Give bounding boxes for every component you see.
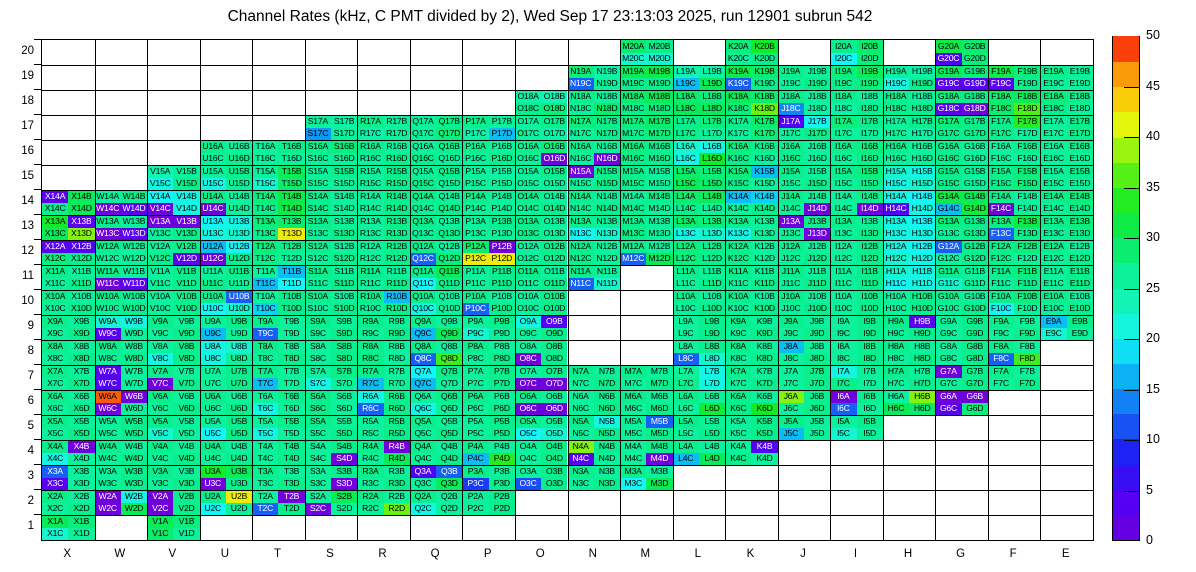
heatmap-subcell[interactable]: G11B [962,265,988,278]
heatmap-subcell[interactable]: I17B [857,115,883,128]
heatmap-subcell[interactable]: R10C [357,303,383,316]
heatmap-subcell[interactable]: J12C [778,253,804,266]
heatmap-subcell[interactable]: S3A [305,465,331,478]
heatmap-subcell[interactable]: L7A [673,365,699,378]
heatmap-subcell[interactable]: O5A [515,415,541,428]
heatmap-subcell[interactable]: L18A [673,90,699,103]
heatmap-subcell[interactable]: Q12C [410,253,436,266]
heatmap-subcell[interactable]: N13D [594,228,620,241]
heatmap-subcell[interactable]: E17A [1040,115,1066,128]
heatmap-subcell[interactable]: I18D [857,103,883,116]
heatmap-subcell[interactable]: P15C [462,178,488,191]
heatmap-subcell[interactable]: T3B [278,465,304,478]
heatmap-subcell[interactable]: X2A [42,490,68,503]
heatmap-subcell[interactable]: H15B [909,165,935,178]
heatmap-subcell[interactable]: N4B [594,440,620,453]
heatmap-subcell[interactable]: H16D [909,153,935,166]
heatmap-subcell[interactable]: J9D [804,328,830,341]
heatmap-subcell[interactable]: J5B [804,415,830,428]
heatmap-subcell[interactable]: T12D [278,253,304,266]
heatmap-subcell[interactable]: O14C [515,203,541,216]
heatmap-subcell[interactable]: G17B [962,115,988,128]
heatmap-subcell[interactable]: S4A [305,440,331,453]
heatmap-subcell[interactable]: F8B [1014,340,1040,353]
heatmap-subcell[interactable]: Q11D [436,278,462,291]
heatmap-subcell[interactable]: L14A [673,190,699,203]
heatmap-subcell[interactable]: O13D [541,228,567,241]
heatmap-subcell[interactable]: G8A [935,340,961,353]
heatmap-subcell[interactable]: G12D [962,253,988,266]
heatmap-subcell[interactable]: Q2B [436,490,462,503]
heatmap-subcell[interactable]: L17A [673,115,699,128]
heatmap-subcell[interactable]: H7C [883,378,909,391]
heatmap-subcell[interactable]: R4D [384,453,410,466]
heatmap-subcell[interactable]: N6D [594,403,620,416]
heatmap-subcell[interactable]: U5A [200,415,226,428]
heatmap-subcell[interactable]: H11D [909,278,935,291]
heatmap-subcell[interactable]: S7D [331,378,357,391]
heatmap-subcell[interactable]: O4A [515,440,541,453]
heatmap-subcell[interactable]: T8A [252,340,278,353]
heatmap-subcell[interactable]: E15A [1040,165,1066,178]
heatmap-subcell[interactable]: I17C [830,128,856,141]
heatmap-subcell[interactable]: Q3C [410,478,436,491]
heatmap-subcell[interactable]: P6A [462,390,488,403]
heatmap-subcell[interactable]: E10D [1067,303,1093,316]
heatmap-subcell[interactable]: V10A [147,290,173,303]
heatmap-subcell[interactable]: S13A [305,215,331,228]
heatmap-subcell[interactable]: Q2D [436,503,462,516]
heatmap-subcell[interactable]: K10A [725,290,751,303]
heatmap-subcell[interactable]: P10A [462,290,488,303]
heatmap-subcell[interactable]: M7D [646,378,672,391]
heatmap-subcell[interactable]: I5D [857,428,883,441]
heatmap-subcell[interactable]: J5A [778,415,804,428]
heatmap-subcell[interactable]: L8C [673,353,699,366]
heatmap-subcell[interactable]: T10C [252,303,278,316]
heatmap-subcell[interactable]: I19A [830,65,856,78]
heatmap-subcell[interactable]: H11B [909,265,935,278]
heatmap-subcell[interactable]: V13A [147,215,173,228]
heatmap-subcell[interactable]: V2C [147,503,173,516]
heatmap-subcell[interactable]: R6D [384,403,410,416]
heatmap-subcell[interactable]: L4D [699,453,725,466]
heatmap-subcell[interactable]: K10C [725,303,751,316]
heatmap-subcell[interactable]: O16B [541,140,567,153]
heatmap-subcell[interactable]: V7C [147,378,173,391]
heatmap-subcell[interactable]: R8C [357,353,383,366]
heatmap-subcell[interactable]: M18B [646,90,672,103]
heatmap-subcell[interactable]: V15D [173,178,199,191]
heatmap-subcell[interactable]: Q7D [436,378,462,391]
heatmap-subcell[interactable]: H9D [909,328,935,341]
heatmap-subcell[interactable]: G17A [935,115,961,128]
heatmap-subcell[interactable]: T8B [278,340,304,353]
heatmap-subcell[interactable]: L5B [699,415,725,428]
heatmap-subcell[interactable]: T15D [278,178,304,191]
heatmap-subcell[interactable]: O8A [515,340,541,353]
heatmap-subcell[interactable]: Q14C [410,203,436,216]
heatmap-subcell[interactable]: J18D [804,103,830,116]
heatmap-subcell[interactable]: X8A [42,340,68,353]
heatmap-subcell[interactable]: N18C [568,103,594,116]
heatmap-subcell[interactable]: K5A [725,415,751,428]
heatmap-subcell[interactable]: Q14A [410,190,436,203]
heatmap-subcell[interactable]: H9A [883,315,909,328]
heatmap-subcell[interactable]: W9A [95,315,121,328]
heatmap-subcell[interactable]: M6A [620,390,646,403]
heatmap-subcell[interactable]: Q16B [436,140,462,153]
heatmap-subcell[interactable]: V6A [147,390,173,403]
heatmap-subcell[interactable]: M4C [620,453,646,466]
heatmap-subcell[interactable]: R12A [357,240,383,253]
heatmap-subcell[interactable]: E12B [1067,240,1093,253]
heatmap-subcell[interactable]: T3D [278,478,304,491]
heatmap-subcell[interactable]: Q6C [410,403,436,416]
heatmap-subcell[interactable]: T15A [252,165,278,178]
heatmap-subcell[interactable]: S14C [305,203,331,216]
heatmap-subcell[interactable]: H16B [909,140,935,153]
heatmap-subcell[interactable]: O17B [541,115,567,128]
heatmap-subcell[interactable]: Q12B [436,240,462,253]
heatmap-subcell[interactable]: W11C [95,278,121,291]
heatmap-subcell[interactable]: T5D [278,428,304,441]
heatmap-subcell[interactable]: Q10A [410,290,436,303]
heatmap-subcell[interactable]: J19B [804,65,830,78]
heatmap-subcell[interactable]: N17A [568,115,594,128]
heatmap-subcell[interactable]: E9B [1067,315,1093,328]
heatmap-subcell[interactable]: F14D [1014,203,1040,216]
heatmap-subcell[interactable]: T4A [252,440,278,453]
heatmap-subcell[interactable]: K15C [725,178,751,191]
heatmap-subcell[interactable]: Q17C [410,128,436,141]
heatmap-subcell[interactable]: S14A [305,190,331,203]
heatmap-subcell[interactable]: E16B [1067,140,1093,153]
heatmap-subcell[interactable]: L4A [673,440,699,453]
heatmap-subcell[interactable]: K4C [725,453,751,466]
heatmap-subcell[interactable]: P7C [462,378,488,391]
heatmap-subcell[interactable]: W4C [95,453,121,466]
heatmap-subcell[interactable]: J6B [804,390,830,403]
heatmap-subcell[interactable]: W5A [95,415,121,428]
heatmap-subcell[interactable]: O5B [541,415,567,428]
heatmap-subcell[interactable]: N14D [594,203,620,216]
heatmap-subcell[interactable]: N19B [594,65,620,78]
heatmap-subcell[interactable]: U16B [226,140,252,153]
heatmap-subcell[interactable]: W13B [121,215,147,228]
heatmap-subcell[interactable]: P14A [462,190,488,203]
heatmap-subcell[interactable]: G8B [962,340,988,353]
heatmap-subcell[interactable]: T16A [252,140,278,153]
heatmap-subcell[interactable]: G14C [935,203,961,216]
heatmap-subcell[interactable]: M17D [646,128,672,141]
heatmap-subcell[interactable]: Q5C [410,428,436,441]
heatmap-subcell[interactable]: V6D [173,403,199,416]
heatmap-subcell[interactable]: U5D [226,428,252,441]
heatmap-subcell[interactable]: P16C [462,153,488,166]
heatmap-subcell[interactable]: O4B [541,440,567,453]
heatmap-subcell[interactable]: M14C [620,203,646,216]
heatmap-subcell[interactable]: J14D [804,203,830,216]
heatmap-subcell[interactable]: X4C [42,453,68,466]
heatmap-subcell[interactable]: O13C [515,228,541,241]
heatmap-subcell[interactable]: R10D [384,303,410,316]
heatmap-subcell[interactable]: K20A [725,40,751,53]
heatmap-subcell[interactable]: E14C [1040,203,1066,216]
heatmap-subcell[interactable]: W3A [95,465,121,478]
heatmap-subcell[interactable]: J8D [804,353,830,366]
heatmap-subcell[interactable]: O12C [515,253,541,266]
heatmap-subcell[interactable]: X2C [42,503,68,516]
heatmap-subcell[interactable]: P7D [489,378,515,391]
heatmap-subcell[interactable]: R5A [357,415,383,428]
heatmap-subcell[interactable]: X14B [68,190,94,203]
heatmap-subcell[interactable]: F12C [988,253,1014,266]
heatmap-subcell[interactable]: F17B [1014,115,1040,128]
heatmap-subcell[interactable]: I5A [830,415,856,428]
heatmap-subcell[interactable]: M12C [620,253,646,266]
heatmap-subcell[interactable]: G18D [962,103,988,116]
heatmap-subcell[interactable]: H12D [909,253,935,266]
heatmap-subcell[interactable]: V10D [173,303,199,316]
heatmap-subcell[interactable]: Q5B [436,415,462,428]
heatmap-subcell[interactable]: L6B [699,390,725,403]
heatmap-subcell[interactable]: I7D [857,378,883,391]
heatmap-subcell[interactable]: J11D [804,278,830,291]
heatmap-subcell[interactable]: P14D [489,203,515,216]
heatmap-subcell[interactable]: R8A [357,340,383,353]
heatmap-subcell[interactable]: Q13C [410,228,436,241]
heatmap-subcell[interactable]: F18A [988,90,1014,103]
heatmap-subcell[interactable]: V15A [147,165,173,178]
heatmap-subcell[interactable]: M17C [620,128,646,141]
heatmap-subcell[interactable]: N3B [594,465,620,478]
heatmap-subcell[interactable]: T6A [252,390,278,403]
heatmap-subcell[interactable]: Q17A [410,115,436,128]
heatmap-subcell[interactable]: N17C [568,128,594,141]
heatmap-subcell[interactable]: O6B [541,390,567,403]
heatmap-subcell[interactable]: T3A [252,465,278,478]
heatmap-subcell[interactable]: H7B [909,365,935,378]
heatmap-subcell[interactable]: P6B [489,390,515,403]
heatmap-subcell[interactable]: T12C [252,253,278,266]
heatmap-subcell[interactable]: K18B [751,90,777,103]
heatmap-subcell[interactable]: J9A [778,315,804,328]
heatmap-subcell[interactable]: O3D [541,478,567,491]
heatmap-subcell[interactable]: F12D [1014,253,1040,266]
heatmap-subcell[interactable]: T13C [252,228,278,241]
heatmap-subcell[interactable]: X12D [68,253,94,266]
heatmap-subcell[interactable]: P5C [462,428,488,441]
heatmap-subcell[interactable]: I12B [857,240,883,253]
heatmap-subcell[interactable]: X11B [68,265,94,278]
heatmap-subcell[interactable]: R12C [357,253,383,266]
heatmap-subcell[interactable]: P2D [489,503,515,516]
heatmap-subcell[interactable]: R16A [357,140,383,153]
heatmap-subcell[interactable]: H16A [883,140,909,153]
heatmap-subcell[interactable]: F11A [988,265,1014,278]
heatmap-subcell[interactable]: M4B [646,440,672,453]
heatmap-subcell[interactable]: S5D [331,428,357,441]
heatmap-subcell[interactable]: K19B [751,65,777,78]
heatmap-subcell[interactable]: W8B [121,340,147,353]
heatmap-subcell[interactable]: O6A [515,390,541,403]
heatmap-subcell[interactable]: H10A [883,290,909,303]
heatmap-subcell[interactable]: U6D [226,403,252,416]
heatmap-subcell[interactable]: E10B [1067,290,1093,303]
heatmap-subcell[interactable]: T11B [278,265,304,278]
heatmap-subcell[interactable]: I9A [830,315,856,328]
heatmap-subcell[interactable]: X3C [42,478,68,491]
heatmap-subcell[interactable]: J16C [778,153,804,166]
heatmap-subcell[interactable]: M19A [620,65,646,78]
heatmap-subcell[interactable]: T10B [278,290,304,303]
heatmap-subcell[interactable]: J11B [804,265,830,278]
heatmap-subcell[interactable]: S4C [305,453,331,466]
heatmap-subcell[interactable]: F7D [1014,378,1040,391]
heatmap-subcell[interactable]: R2C [357,503,383,516]
heatmap-subcell[interactable]: V4A [147,440,173,453]
heatmap-subcell[interactable]: P8B [489,340,515,353]
heatmap-subcell[interactable]: H14B [909,190,935,203]
heatmap-subcell[interactable]: X8D [68,353,94,366]
heatmap-subcell[interactable]: J6D [804,403,830,416]
heatmap-subcell[interactable]: R16B [384,140,410,153]
heatmap-subcell[interactable]: J5C [778,428,804,441]
heatmap-subcell[interactable]: M14A [620,190,646,203]
heatmap-subcell[interactable]: W12A [95,240,121,253]
heatmap-subcell[interactable]: K8A [725,340,751,353]
heatmap-subcell[interactable]: G19D [962,78,988,91]
heatmap-subcell[interactable]: L5A [673,415,699,428]
heatmap-subcell[interactable]: W3D [121,478,147,491]
heatmap-subcell[interactable]: P8C [462,353,488,366]
heatmap-subcell[interactable]: Q4C [410,453,436,466]
heatmap-subcell[interactable]: W9C [95,328,121,341]
heatmap-subcell[interactable]: W4D [121,453,147,466]
heatmap-subcell[interactable]: F18C [988,103,1014,116]
heatmap-subcell[interactable]: L13C [673,228,699,241]
heatmap-subcell[interactable]: L14C [673,203,699,216]
heatmap-subcell[interactable]: P17D [489,128,515,141]
heatmap-subcell[interactable]: O9C [515,328,541,341]
heatmap-subcell[interactable]: T16B [278,140,304,153]
heatmap-subcell[interactable]: U14B [226,190,252,203]
heatmap-subcell[interactable]: W11B [121,265,147,278]
heatmap-subcell[interactable]: X5D [68,428,94,441]
heatmap-subcell[interactable]: U12C [200,253,226,266]
heatmap-subcell[interactable]: T15C [252,178,278,191]
heatmap-subcell[interactable]: X8B [68,340,94,353]
heatmap-subcell[interactable]: L16B [699,140,725,153]
heatmap-subcell[interactable]: E11B [1067,265,1093,278]
heatmap-subcell[interactable]: P2B [489,490,515,503]
heatmap-subcell[interactable]: O11B [541,265,567,278]
heatmap-subcell[interactable]: K4A [725,440,751,453]
heatmap-subcell[interactable]: E17D [1067,128,1093,141]
heatmap-subcell[interactable]: V2B [173,490,199,503]
heatmap-subcell[interactable]: U8C [200,353,226,366]
heatmap-subcell[interactable]: I16C [830,153,856,166]
heatmap-subcell[interactable]: E18D [1067,103,1093,116]
heatmap-subcell[interactable]: L4B [699,440,725,453]
heatmap-subcell[interactable]: M15A [620,165,646,178]
heatmap-subcell[interactable]: I15C [830,178,856,191]
heatmap-subcell[interactable]: I8A [830,340,856,353]
heatmap-subcell[interactable]: W9D [121,328,147,341]
heatmap-subcell[interactable]: W2C [95,503,121,516]
heatmap-subcell[interactable]: L11C [673,278,699,291]
heatmap-subcell[interactable]: I11B [857,265,883,278]
heatmap-subcell[interactable]: F11B [1014,265,1040,278]
heatmap-subcell[interactable]: U7D [226,378,252,391]
heatmap-subcell[interactable]: T14A [252,190,278,203]
heatmap-subcell[interactable]: U14D [226,203,252,216]
heatmap-subcell[interactable]: J18C [778,103,804,116]
heatmap-subcell[interactable]: P11A [462,265,488,278]
heatmap-subcell[interactable]: G20B [962,40,988,53]
heatmap-subcell[interactable]: X7B [68,365,94,378]
heatmap-subcell[interactable]: N4A [568,440,594,453]
heatmap-subcell[interactable]: E18C [1040,103,1066,116]
heatmap-subcell[interactable]: U9C [200,328,226,341]
heatmap-subcell[interactable]: F17A [988,115,1014,128]
heatmap-subcell[interactable]: X11A [42,265,68,278]
heatmap-subcell[interactable]: X9A [42,315,68,328]
heatmap-subcell[interactable]: H6C [883,403,909,416]
heatmap-subcell[interactable]: O15B [541,165,567,178]
heatmap-subcell[interactable]: L15B [699,165,725,178]
heatmap-subcell[interactable]: P17C [462,128,488,141]
heatmap-subcell[interactable]: X4B [68,440,94,453]
heatmap-subcell[interactable]: I13C [830,228,856,241]
heatmap-subcell[interactable]: N5C [568,428,594,441]
heatmap-subcell[interactable]: M13C [620,228,646,241]
heatmap-subcell[interactable]: W10A [95,290,121,303]
heatmap-subcell[interactable]: N3D [594,478,620,491]
heatmap-subcell[interactable]: K6A [725,390,751,403]
heatmap-subcell[interactable]: G9A [935,315,961,328]
heatmap-subcell[interactable]: U15B [226,165,252,178]
heatmap-subcell[interactable]: P5D [489,428,515,441]
heatmap-subcell[interactable]: G12B [962,240,988,253]
heatmap-subcell[interactable]: X8C [42,353,68,366]
heatmap-subcell[interactable]: K7D [751,378,777,391]
heatmap-subcell[interactable]: R5C [357,428,383,441]
heatmap-subcell[interactable]: R13B [384,215,410,228]
heatmap-subcell[interactable]: V13B [173,215,199,228]
heatmap-subcell[interactable]: H18C [883,103,909,116]
heatmap-subcell[interactable]: L11A [673,265,699,278]
heatmap-subcell[interactable]: G17D [962,128,988,141]
heatmap-subcell[interactable]: M13D [646,228,672,241]
heatmap-subcell[interactable]: Q10B [436,290,462,303]
heatmap-subcell[interactable]: X5A [42,415,68,428]
heatmap-subcell[interactable]: O18D [541,103,567,116]
heatmap-subcell[interactable]: K17B [751,115,777,128]
heatmap-subcell[interactable]: L15C [673,178,699,191]
heatmap-subcell[interactable]: M16C [620,153,646,166]
heatmap-subcell[interactable]: N12D [594,253,620,266]
heatmap-subcell[interactable]: W12D [121,253,147,266]
heatmap-subcell[interactable]: V9B [173,315,199,328]
heatmap-subcell[interactable]: M20B [646,40,672,53]
heatmap-subcell[interactable]: I19B [857,65,883,78]
heatmap-subcell[interactable]: K6D [751,403,777,416]
heatmap-subcell[interactable]: V9A [147,315,173,328]
heatmap-subcell[interactable]: R13D [384,228,410,241]
heatmap-subcell[interactable]: G16C [935,153,961,166]
